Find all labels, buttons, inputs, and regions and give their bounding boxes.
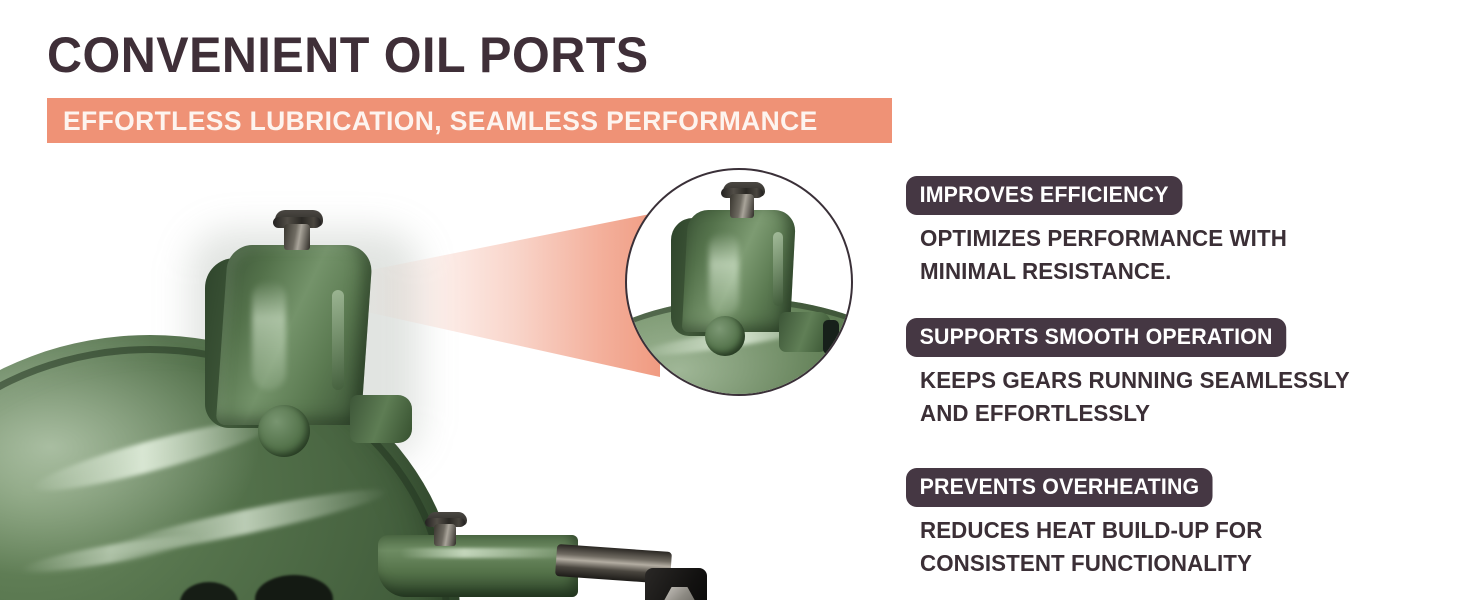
neck-highlight [252,280,286,390]
bearing-neck [216,245,374,425]
zoomed-neck-bolt-boss [705,316,745,356]
feature-item: SUPPORTS SMOOTH OPERATION KEEPS GEARS RU… [906,318,1446,430]
oil-port-cap-icon [425,512,465,546]
feature-item: IMPROVES EFFICIENCY OPTIMIZES PERFORMANC… [906,176,1446,288]
feature-pill-label: SUPPORTS SMOOTH OPERATION [906,318,1286,357]
neck-bolt-boss [258,405,310,457]
zoomed-neck-seam [773,232,783,306]
feature-body-text: REDUCES HEAT BUILD-UP FOR CONSISTENT FUN… [920,514,1430,580]
feature-pill-label: IMPROVES EFFICIENCY [906,176,1182,215]
zoomed-neck-highlight [709,232,739,316]
oil-port-cap-stem [284,224,311,250]
arm-highlight [400,548,560,558]
zoomed-dark-nub [823,320,839,354]
neck-side-lug [350,395,412,443]
zoomed-oil-port-cap-icon [721,182,763,218]
oil-port-cap-icon [273,210,321,250]
subtitle-text: EFFORTLESS LUBRICATION, SEAMLESS PERFORM… [63,105,818,137]
magnifier-circle [625,168,853,396]
neck-seam [332,290,344,390]
feature-item: PREVENTS OVERHEATING REDUCES HEAT BUILD-… [906,468,1446,580]
feature-list: IMPROVES EFFICIENCY OPTIMIZES PERFORMANC… [906,176,1446,600]
oil-port-cap-stem [434,524,456,546]
magnifier-content [627,170,851,394]
gearbox-arm-tube [378,535,578,597]
oil-port-cap-stem [730,194,754,218]
feature-body-text: KEEPS GEARS RUNNING SEAMLESSLY AND EFFOR… [920,364,1430,430]
feature-pill-label: PREVENTS OVERHEATING [906,468,1213,507]
marketing-banner: CONVENIENT OIL PORTS EFFORTLESS LUBRICAT… [0,0,1464,600]
page-title: CONVENIENT OIL PORTS [47,28,649,82]
feature-body-text: OPTIMIZES PERFORMANCE WITH MINIMAL RESIS… [920,222,1430,288]
subtitle-banner: EFFORTLESS LUBRICATION, SEAMLESS PERFORM… [47,98,892,143]
